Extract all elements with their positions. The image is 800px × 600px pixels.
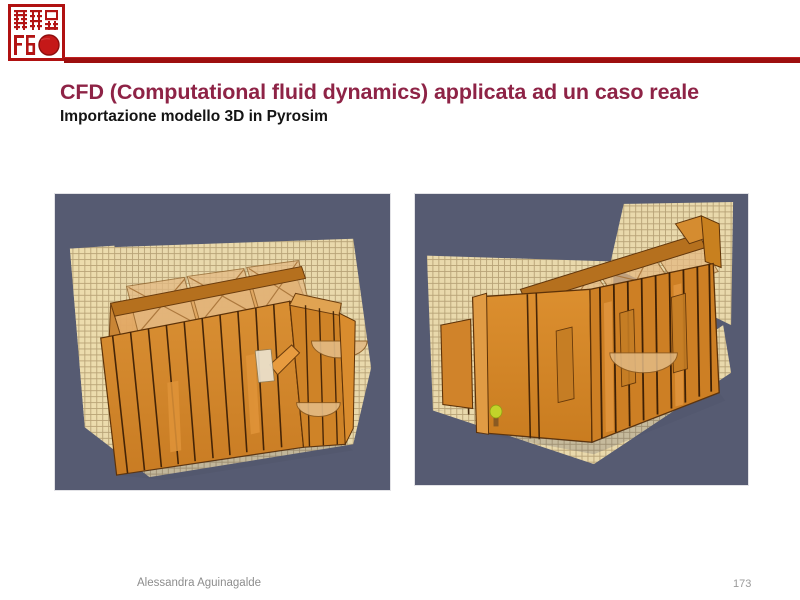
pyrosim-3d-model-view-1 [54, 193, 391, 491]
page-subtitle: Importazione modello 3D in Pyrosim [60, 108, 780, 126]
slide-header [0, 0, 800, 66]
footer-page-number: 173 [733, 578, 751, 590]
page-title: CFD (Computational fluid dynamics) appli… [60, 80, 780, 105]
header-divider-rule [64, 57, 800, 63]
footer-author: Alessandra Aguinagalde [137, 577, 261, 589]
red-seal-stamp-icon [8, 4, 65, 61]
pyrosim-3d-model-view-2 [414, 193, 749, 486]
